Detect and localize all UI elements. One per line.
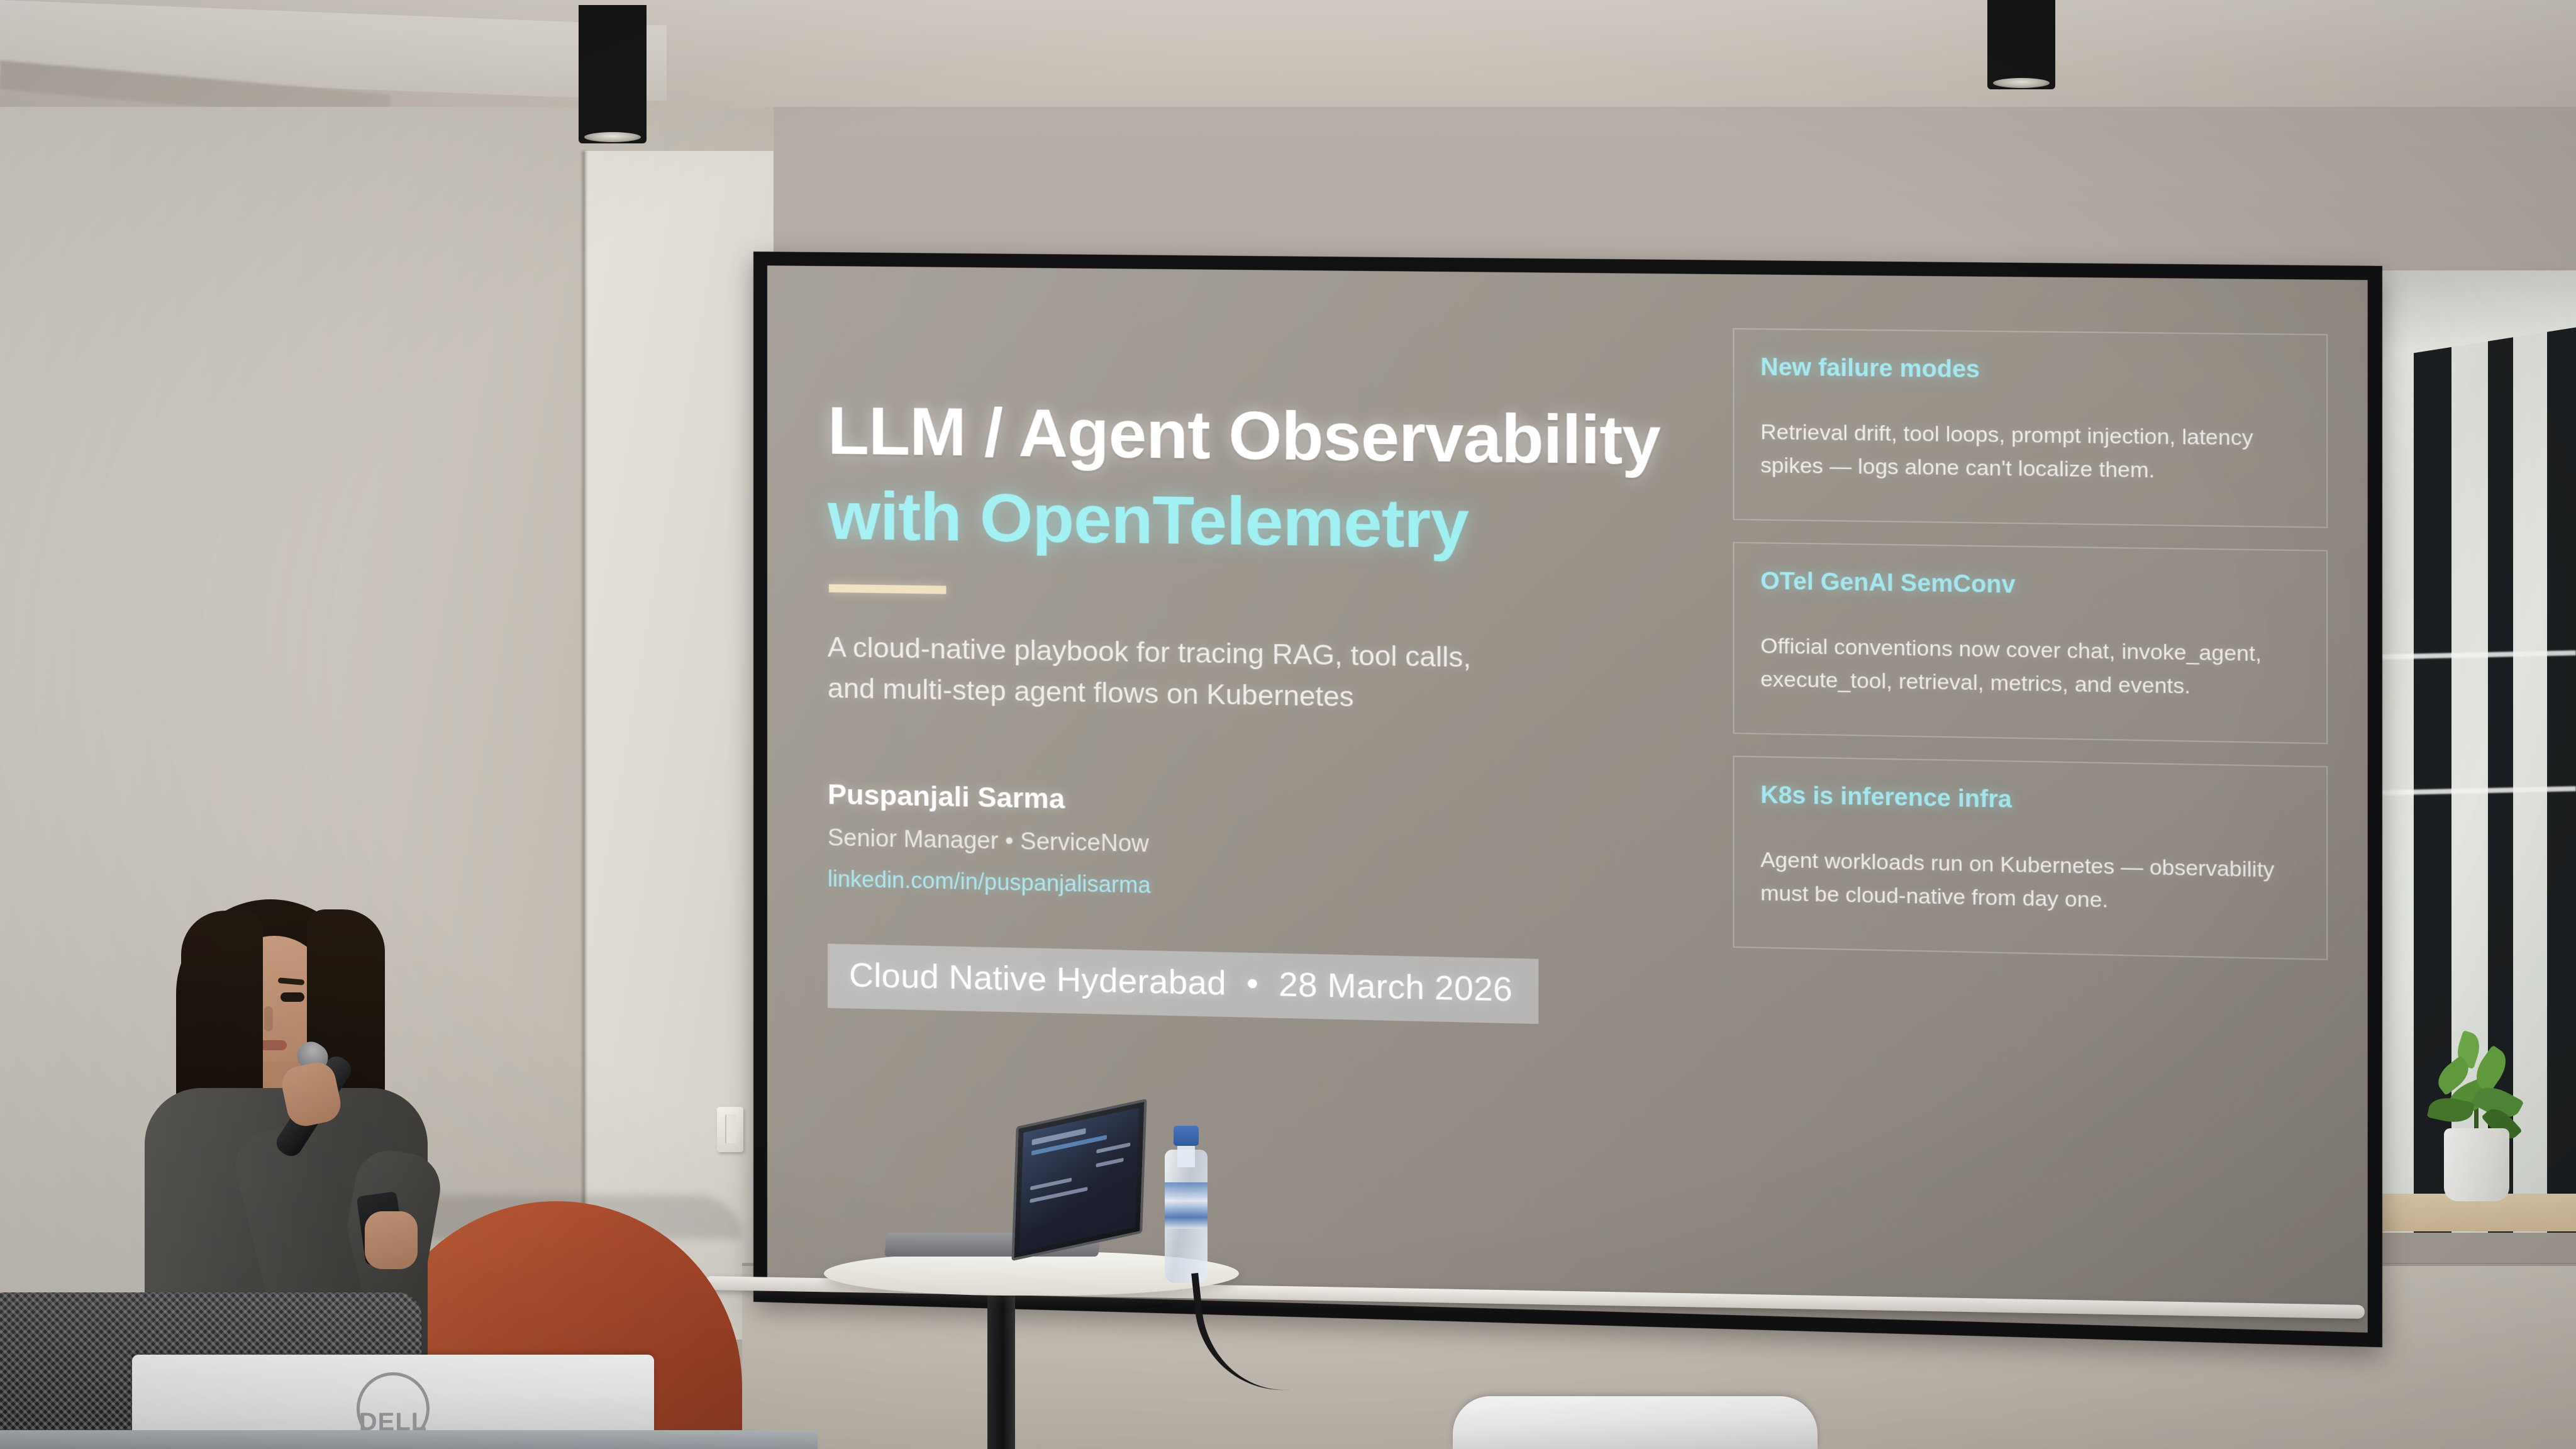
slide-title-line2: with OpenTelemetry [828,480,1733,564]
speaker-role: Senior Manager • ServiceNow [828,824,1733,869]
projector-screen-frame: LLM / Agent Observability with OpenTelem… [753,252,2382,1347]
pendant-light-icon [1987,0,2055,89]
slide-right-column: New failure modes Retrieval drift, tool … [1733,321,2328,1292]
desk-edge [0,1430,818,1449]
projected-slide: LLM / Agent Observability with OpenTelem… [767,265,2368,1333]
slide-card-k8s-is-inference-infra: K8s is inference infra Agent workloads r… [1733,756,2328,960]
title-accent-bar [829,584,947,594]
slide-subtitle: A cloud-native playbook for tracing RAG,… [828,626,1733,724]
wall-corner-edge [582,151,586,1346]
window-mullion [2547,275,2576,1233]
event-name: Cloud Native Hyderabad [849,956,1226,1002]
card-body: Official conventions now cover chat, inv… [1760,630,2300,705]
projector-screen: LLM / Agent Observability with OpenTelem… [753,252,2382,1347]
slide-card-new-failure-modes: New failure modes Retrieval drift, tool … [1733,328,2328,528]
card-title: New failure modes [1760,354,2300,387]
speaker-name: Puspanjali Sarma [828,778,1733,828]
card-title: K8s is inference infra [1760,782,2300,819]
card-body: Retrieval drift, tool loops, prompt inje… [1760,416,2300,489]
table-leg [987,1289,1015,1449]
plant-pot [2444,1128,2509,1201]
dell-monitor-back-secondary [1453,1396,1818,1449]
bottle-cap [1174,1126,1199,1146]
slide-content: LLM / Agent Observability with OpenTelem… [767,265,2368,1333]
slide-title-line1: LLM / Agent Observability [828,394,1733,477]
water-bottle [1165,1126,1207,1283]
presenter-hand-right [365,1211,418,1269]
wall-panel [585,151,774,1340]
slide-left-column: LLM / Agent Observability with OpenTelem… [828,313,1733,1277]
slide-card-otel-genai-semconv: OTel GenAI SemConv Official conventions … [1733,542,2328,745]
event-banner: Cloud Native Hyderabad • 28 March 2026 [828,944,1538,1024]
bottle-label [1165,1182,1207,1229]
presenter-nose [264,1006,273,1031]
conference-room-scene: LLM / Agent Observability with OpenTelem… [0,0,2576,1449]
card-title: OTel GenAI SemConv [1760,568,2300,603]
event-separator: • [1236,965,1269,1004]
event-date: 28 March 2026 [1279,965,1513,1009]
light-switch[interactable] [717,1107,743,1152]
card-body: Agent workloads run on Kubernetes — obse… [1760,844,2300,921]
speaker-linkedin-link[interactable]: linkedin.com/in/puspanjalisarma [828,866,1733,911]
pendant-light-icon [579,5,647,143]
bottle-neck [1177,1142,1195,1167]
presenter-eye [280,992,304,1002]
potted-plant [2414,1013,2540,1201]
